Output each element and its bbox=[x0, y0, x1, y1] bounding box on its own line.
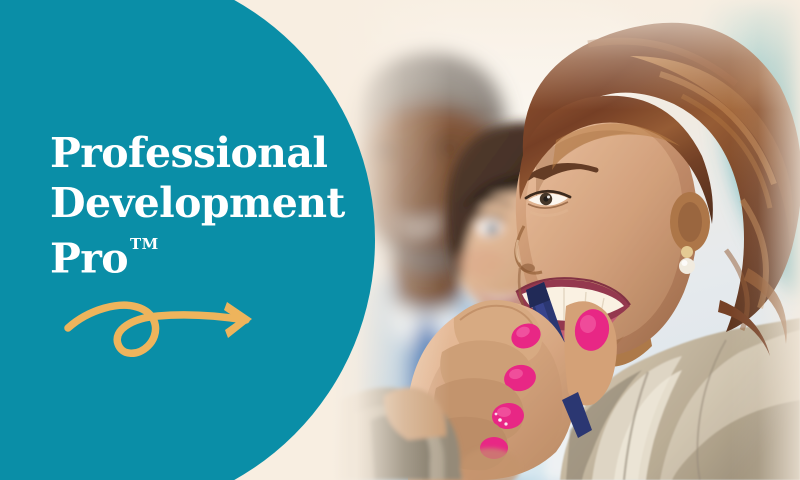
brand-line-2: Development bbox=[50, 178, 380, 228]
brand-pro-word: Pro bbox=[50, 235, 128, 283]
trademark-symbol: TM bbox=[130, 235, 159, 253]
brand-line-1: Professional bbox=[50, 128, 380, 178]
conference-photo bbox=[330, 0, 800, 480]
curved-loop-arrow bbox=[62, 292, 262, 372]
marketing-banner: Professional Development ProTM bbox=[0, 0, 800, 480]
brand-lockup: Professional Development ProTM bbox=[50, 128, 380, 284]
brand-line-3: ProTM bbox=[50, 228, 157, 284]
